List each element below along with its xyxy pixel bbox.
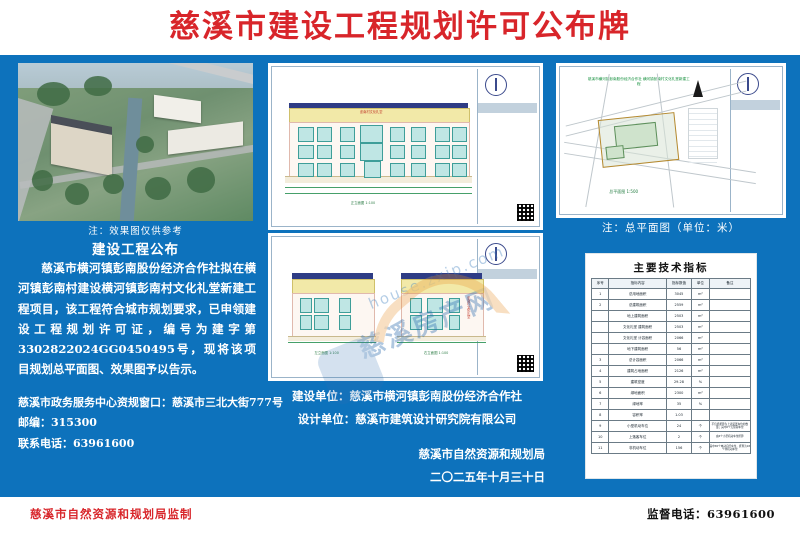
row-unit: m² [692,355,709,366]
row-no: 3 [592,355,609,366]
announcement-contact: 慈溪市政务服务中心资规窗口：慈溪市三北大街777号 邮编：315300 联系电话… [18,393,263,454]
construction-unit: 建设单位：慈溪市横河镇彭南股份经济合作社 [268,385,546,408]
row-no: 8 [592,410,609,421]
row-remark [709,377,750,388]
title-block [477,239,537,375]
row-no: 10 [592,432,609,443]
render-tree [37,82,70,106]
render-tree [136,136,155,153]
permit-board: 慈溪市建设工程规划许可公布牌 注：效果图仅供参考 建设工程公布 [0,0,800,533]
technical-indicators-card: 主要技术指标 序号 指标内容 指标数值 单位 备注 1总用地面积3045m²2总… [585,253,757,479]
row-unit: m² [692,289,709,300]
row-value: 2503 [666,322,691,333]
row-name: 容积率 [609,410,666,421]
institute-logo-icon [485,74,507,96]
render-tree [187,167,215,192]
drawing-front-elevation[interactable]: 彭南村文化礼堂 [268,63,543,230]
row-remark: 不包括折算为上表装置车位的数量；其中2个无障碍车位 [709,421,750,432]
row-unit: m² [692,300,709,311]
row-name: 绿地率 [609,399,666,410]
row-no: 4 [592,366,609,377]
row-unit [692,410,709,421]
row-no [592,322,609,333]
drawing-sheet: 彭南村文化礼堂 [271,66,540,227]
row-remark [709,333,750,344]
table-row: 10上落客车位2个由4个小型机动车位折算 [592,432,751,443]
row-value: 2559 [666,300,691,311]
indicators-body: 1总用地面积3045m²2总建筑面积2559m²地上建筑面积2503m²文化礼堂… [592,289,751,454]
table-row: 2总建筑面积2559m² [592,300,751,311]
table-row: 地下建筑面积56m² [592,344,751,355]
right-elevation-graphic: 彭南村文化礼堂 右立面图 1:100 [397,259,485,346]
table-row: 9小型机动车位24个不包括折算为上表装置车位的数量；其中2个无障碍车位 [592,421,751,432]
site-plan-legend [688,108,718,159]
row-value: 156 [666,443,691,454]
row-name: 建筑密度 [609,377,666,388]
site-plan-heading: 慈溪市横河镇彭南股份经济合作社 横河镇彭南村文化礼堂新建工程 [588,77,691,88]
header-remark: 备注 [709,279,750,289]
indicators-head: 序号 指标内容 指标数值 单位 备注 [592,279,751,289]
site-plan-note: 注：总平面图（单位：米） [556,220,786,235]
elevation-right-label: 右立面图 1:100 [424,350,448,355]
row-no: 5 [592,377,609,388]
north-arrow-icon [687,80,709,104]
table-row: 文化礼堂 建筑面积2503m² [592,322,751,333]
board-title-bar: 慈溪市建设工程规划许可公布牌 [0,0,800,55]
title-block [477,69,537,224]
render-tree [103,174,124,195]
row-no: 9 [592,421,609,432]
footer-rule [0,493,800,497]
row-unit: m² [692,366,709,377]
row-no: 7 [592,399,609,410]
page-title: 慈溪市建设工程规划许可公布牌 [169,12,631,43]
row-no: 1 [592,289,609,300]
header-no: 序号 [592,279,609,289]
row-value: 24 [666,421,691,432]
row-unit: m² [692,333,709,344]
row-name: 文化礼堂 计容面积 [609,333,666,344]
drawing-site-plan[interactable]: 慈溪市横河镇彭南股份经济合作社 横河镇彭南村文化礼堂新建工程 总平面图 1:50… [556,63,786,218]
table-row: 7绿地率35% [592,399,751,410]
footer-supervisor: 慈溪市自然资源和规划局监制 [30,506,193,522]
service-window-line: 慈溪市政务服务中心资规窗口：慈溪市三北大街777号 [18,393,263,413]
row-remark: 由4个小型机动车位折算 [709,432,750,443]
row-unit: m² [692,344,709,355]
row-name: 非机动车位 [609,443,666,454]
table-row: 1总用地面积3045m² [592,289,751,300]
row-name: 绿地面积 [609,388,666,399]
row-value: 2066 [666,333,691,344]
row-no [592,344,609,355]
row-name: 地下建筑面积 [609,344,666,355]
issuing-bureau: 慈溪市自然资源和规划局 [300,443,545,466]
issue-date: 二〇二五年十月三十日 [300,466,545,489]
site-plan-scale-label: 总平面图 1:500 [609,189,638,195]
row-value: 1.03 [666,410,691,421]
board-footer: 慈溪市自然资源和规划局监制 监督电话：63961600 [0,493,800,533]
row-value: 35 [666,399,691,410]
table-row: 6绿地面积2300m² [592,388,751,399]
row-no: 11 [592,443,609,454]
header-unit: 单位 [692,279,709,289]
row-name: 上落客车位 [609,432,666,443]
drawing-qr-code [517,204,534,221]
render-tree [84,76,112,97]
row-no [592,333,609,344]
elevation-left-label: 左立面图 1:100 [314,350,338,355]
indicators-table: 序号 指标内容 指标数值 单位 备注 1总用地面积3045m²2总建筑面积255… [591,278,751,454]
row-value: 2 [666,432,691,443]
drawing-side-elevations[interactable]: 左立面图 1:100 彭南村文化礼堂 右立面图 1:100 [268,233,543,381]
row-remark [709,344,750,355]
row-value: 29.28 [666,377,691,388]
row-unit: 个 [692,443,709,454]
board-body: 注：效果图仅供参考 建设工程公布 慈溪市横河镇彭南股份经济合作社拟在横河镇彭南村… [0,55,800,493]
indicators-title: 主要技术指标 [591,260,751,275]
row-remark [709,388,750,399]
table-row: 8容积率1.03 [592,410,751,421]
header-name: 指标内容 [609,279,666,289]
row-name: 文化礼堂 建筑面积 [609,322,666,333]
header-value: 指标数值 [666,279,691,289]
row-name: 总建筑面积 [609,300,666,311]
row-remark [709,355,750,366]
footer-hotline: 监督电话：63961600 [647,506,775,522]
table-row: 11非机动车位156个其中65个电动自行车位，折算为18个非机动车位 [592,443,751,454]
row-remark: 其中65个电动自行车位，折算为18个非机动车位 [709,443,750,454]
row-no: 2 [592,300,609,311]
render-tree [65,183,89,205]
row-remark [709,399,750,410]
render-tree [32,170,53,191]
row-name: 总用地面积 [609,289,666,300]
row-unit: 个 [692,432,709,443]
row-value: 2503 [666,311,691,322]
row-unit: m² [692,322,709,333]
row-no [592,311,609,322]
row-remark [709,410,750,421]
table-header-row: 序号 指标内容 指标数值 单位 备注 [592,279,751,289]
row-no: 6 [592,388,609,399]
institute-logo-icon [485,243,507,265]
table-row: 5建筑密度29.28% [592,377,751,388]
row-name: 地上建筑面积 [609,311,666,322]
row-unit: m² [692,388,709,399]
row-name: 总计容面积 [609,355,666,366]
announcement-body: 慈溪市横河镇彭南股份经济合作社拟在横河镇彭南村建设横河镇彭南村文化礼堂新建工程项… [18,258,256,380]
row-value: 2126 [666,366,691,377]
announcement-paragraph: 慈溪市横河镇彭南股份经济合作社拟在横河镇彭南村建设横河镇彭南村文化礼堂新建工程项… [18,258,256,380]
row-value: 2066 [666,355,691,366]
table-row: 4建筑占地面积2126m² [592,366,751,377]
drawing-sheet: 左立面图 1:100 彭南村文化礼堂 右立面图 1:100 [271,236,540,378]
postcode-line: 邮编：315300 [18,413,263,433]
row-remark [709,311,750,322]
row-unit: 个 [692,421,709,432]
front-elevation-graphic: 彭南村文化礼堂 [285,89,472,194]
drawing-qr-code [517,355,534,372]
row-unit: % [692,377,709,388]
row-value: 3045 [666,289,691,300]
row-name: 小型机动车位 [609,421,666,432]
phone-line: 联系电话：63961600 [18,434,263,454]
render-tree [145,177,171,201]
row-remark [709,289,750,300]
row-name: 建筑占地面积 [609,366,666,377]
front-elevation-caption: 正立面图 1:100 [285,197,472,219]
signoff-block: 慈溪市自然资源和规划局 二〇二五年十月三十日 [300,443,545,489]
row-remark [709,366,750,377]
row-value: 56 [666,344,691,355]
left-elevation-graphic: 左立面图 1:100 [288,259,376,346]
row-unit: m² [692,311,709,322]
elevation-front-label: 正立面图 1:100 [351,200,375,205]
row-unit: % [692,399,709,410]
title-block [730,69,780,212]
table-row: 3总计容面积2066m² [592,355,751,366]
units-block: 建设单位：慈溪市横河镇彭南股份经济合作社 设计单位：慈溪市建筑设计研究院有限公司 [268,385,546,431]
site-plan-graphic: 慈溪市横河镇彭南股份经济合作社 横河镇彭南村文化礼堂新建工程 总平面图 1:50… [569,73,724,208]
row-remark [709,300,750,311]
announcement-heading: 建设工程公布 [18,238,253,258]
drawing-sheet: 慈溪市横河镇彭南股份经济合作社 横河镇彭南村文化礼堂新建工程 总平面图 1:50… [559,66,783,215]
row-remark [709,322,750,333]
table-row: 文化礼堂 计容面积2066m² [592,333,751,344]
table-row: 地上建筑面积2503m² [592,311,751,322]
aerial-render-image [18,63,253,221]
row-value: 2300 [666,388,691,399]
design-unit: 设计单位：慈溪市建筑设计研究院有限公司 [268,408,546,431]
render-note: 注：效果图仅供参考 [18,223,253,237]
